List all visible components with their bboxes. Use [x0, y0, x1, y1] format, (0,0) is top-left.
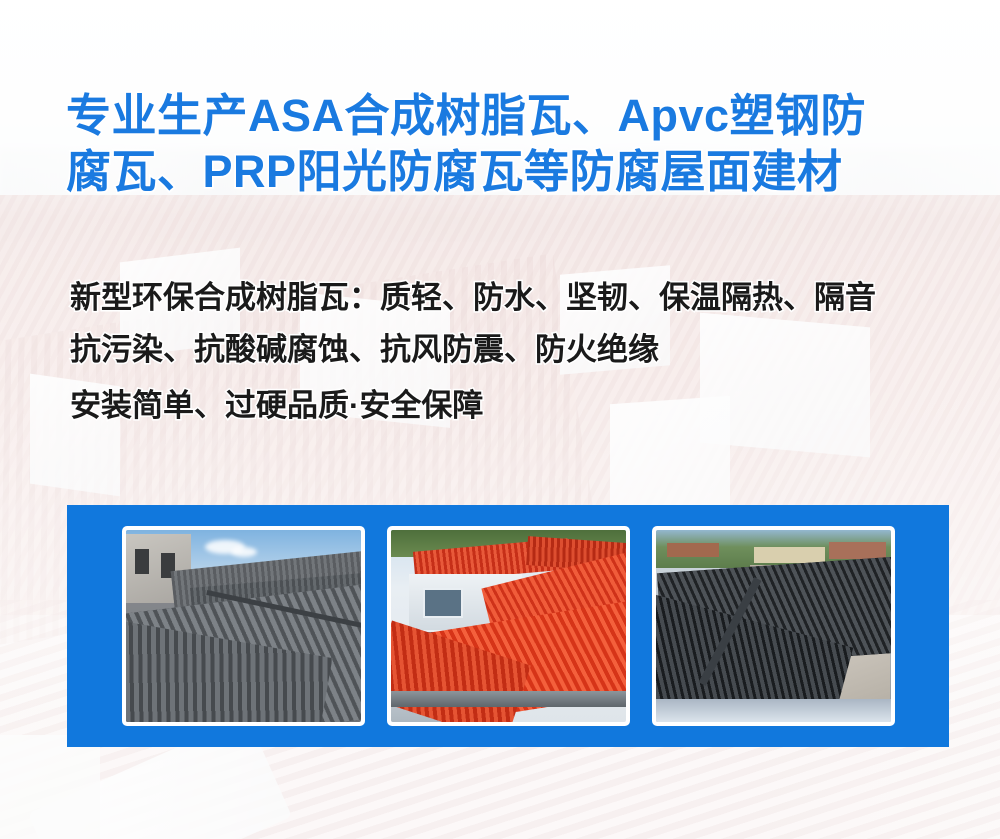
headline: 专业生产ASA合成树脂瓦、Apvc塑钢防 腐瓦、PRP阳光防腐瓦等防腐屋面建材	[66, 88, 946, 200]
subheadline-line-2: 抗污染、抗酸碱腐蚀、抗风防震、防火绝缘	[70, 324, 950, 376]
subheadline-line-1: 新型环保合成树脂瓦：质轻、防水、坚韧、保温隔热、隔音	[70, 272, 950, 324]
photo-frame-3[interactable]	[652, 526, 895, 726]
product-banner: 专业生产ASA合成树脂瓦、Apvc塑钢防 腐瓦、PRP阳光防腐瓦等防腐屋面建材 …	[0, 0, 1000, 839]
headline-line-2: 腐瓦、PRP阳光防腐瓦等防腐屋面建材	[66, 144, 946, 200]
subheadline-line-3: 安装简单、过硬品质·安全保障	[70, 380, 950, 432]
photo-frame-2[interactable]	[387, 526, 630, 726]
photo-gallery-panel	[67, 505, 949, 747]
grey-resin-tile-roof-photo	[126, 530, 361, 722]
black-resin-tile-carport-photo	[656, 530, 891, 722]
headline-line-1: 专业生产ASA合成树脂瓦、Apvc塑钢防	[66, 88, 946, 144]
red-resin-tile-roof-photo	[391, 530, 626, 722]
subheadline: 新型环保合成树脂瓦：质轻、防水、坚韧、保温隔热、隔音 抗污染、抗酸碱腐蚀、抗风防…	[70, 272, 950, 432]
photo-frame-1[interactable]	[122, 526, 365, 726]
